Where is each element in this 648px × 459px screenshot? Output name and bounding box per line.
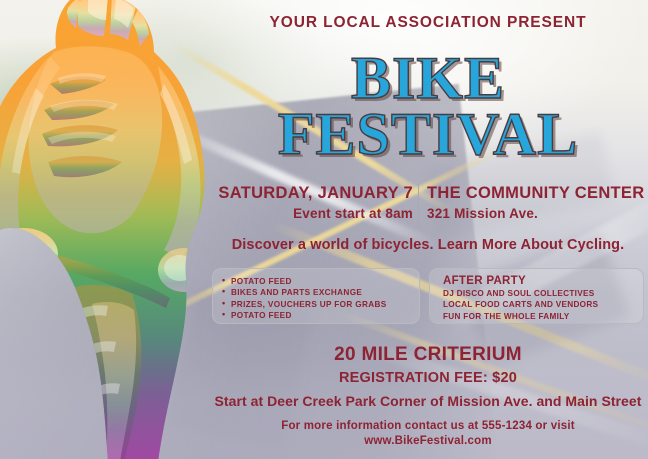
list-item: BIKES AND PARTS EXCHANGE xyxy=(231,287,419,298)
list-item: LOCAL FOOD CARTS AND VENDORS xyxy=(443,299,643,310)
list-item: POTATO FEED xyxy=(231,310,419,321)
contact-phone-line: For more information contact us at 555-1… xyxy=(208,419,648,434)
activities-list: POTATO FEED BIKES AND PARTS EXCHANGE PRI… xyxy=(213,269,419,321)
after-party-box: AFTER PARTY DJ DISCO AND SOUL COLLECTIVE… xyxy=(429,268,644,324)
title-line-2: FESTIVAL xyxy=(208,104,648,164)
start-location: Start at Deer Creek Park Corner of Missi… xyxy=(208,393,648,409)
criterium-title: 20 MILE CRITERIUM xyxy=(208,344,648,366)
event-fact-bar: SATURDAY, JANUARY 7 Event start at 8am T… xyxy=(208,183,648,233)
cyclist-illustration xyxy=(0,0,238,459)
contact-website: www.BikeFestival.com xyxy=(208,434,648,449)
event-venue-block: THE COMMUNITY CENTER 321 Mission Ave. xyxy=(427,183,648,223)
activities-box: POTATO FEED BIKES AND PARTS EXCHANGE PRI… xyxy=(212,268,420,324)
poster-content: YOUR LOCAL ASSOCIATION PRESENT BIKE FEST… xyxy=(208,0,648,459)
after-party-heading: AFTER PARTY xyxy=(430,269,643,287)
registration-fee: REGISTRATION FEE: $20 xyxy=(208,370,648,386)
event-date: SATURDAY, JANUARY 7 xyxy=(208,183,413,204)
list-item: PRIZES, VOUCHERS UP FOR GRABS xyxy=(231,299,419,310)
bike-festival-poster: YOUR LOCAL ASSOCIATION PRESENT BIKE FEST… xyxy=(0,0,648,459)
vertical-divider xyxy=(418,184,419,228)
presenter-line: YOUR LOCAL ASSOCIATION PRESENT xyxy=(208,14,648,32)
event-venue: THE COMMUNITY CENTER xyxy=(427,183,648,204)
tagline: Discover a world of bicycles. Learn More… xyxy=(208,237,648,253)
event-address: 321 Mission Ave. xyxy=(427,204,648,224)
title-line-1: BIKE xyxy=(208,48,648,108)
list-item: DJ DISCO AND SOUL COLLECTIVES xyxy=(443,288,643,299)
event-date-block: SATURDAY, JANUARY 7 Event start at 8am xyxy=(208,183,413,223)
contact-info: For more information contact us at 555-1… xyxy=(208,419,648,449)
list-item: POTATO FEED xyxy=(231,276,419,287)
list-item: FUN FOR THE WHOLE FAMILY xyxy=(443,311,643,322)
event-start-time: Event start at 8am xyxy=(208,204,413,224)
after-party-lines: DJ DISCO AND SOUL COLLECTIVES LOCAL FOOD… xyxy=(430,287,643,322)
info-boxes: POTATO FEED BIKES AND PARTS EXCHANGE PRI… xyxy=(208,268,648,326)
